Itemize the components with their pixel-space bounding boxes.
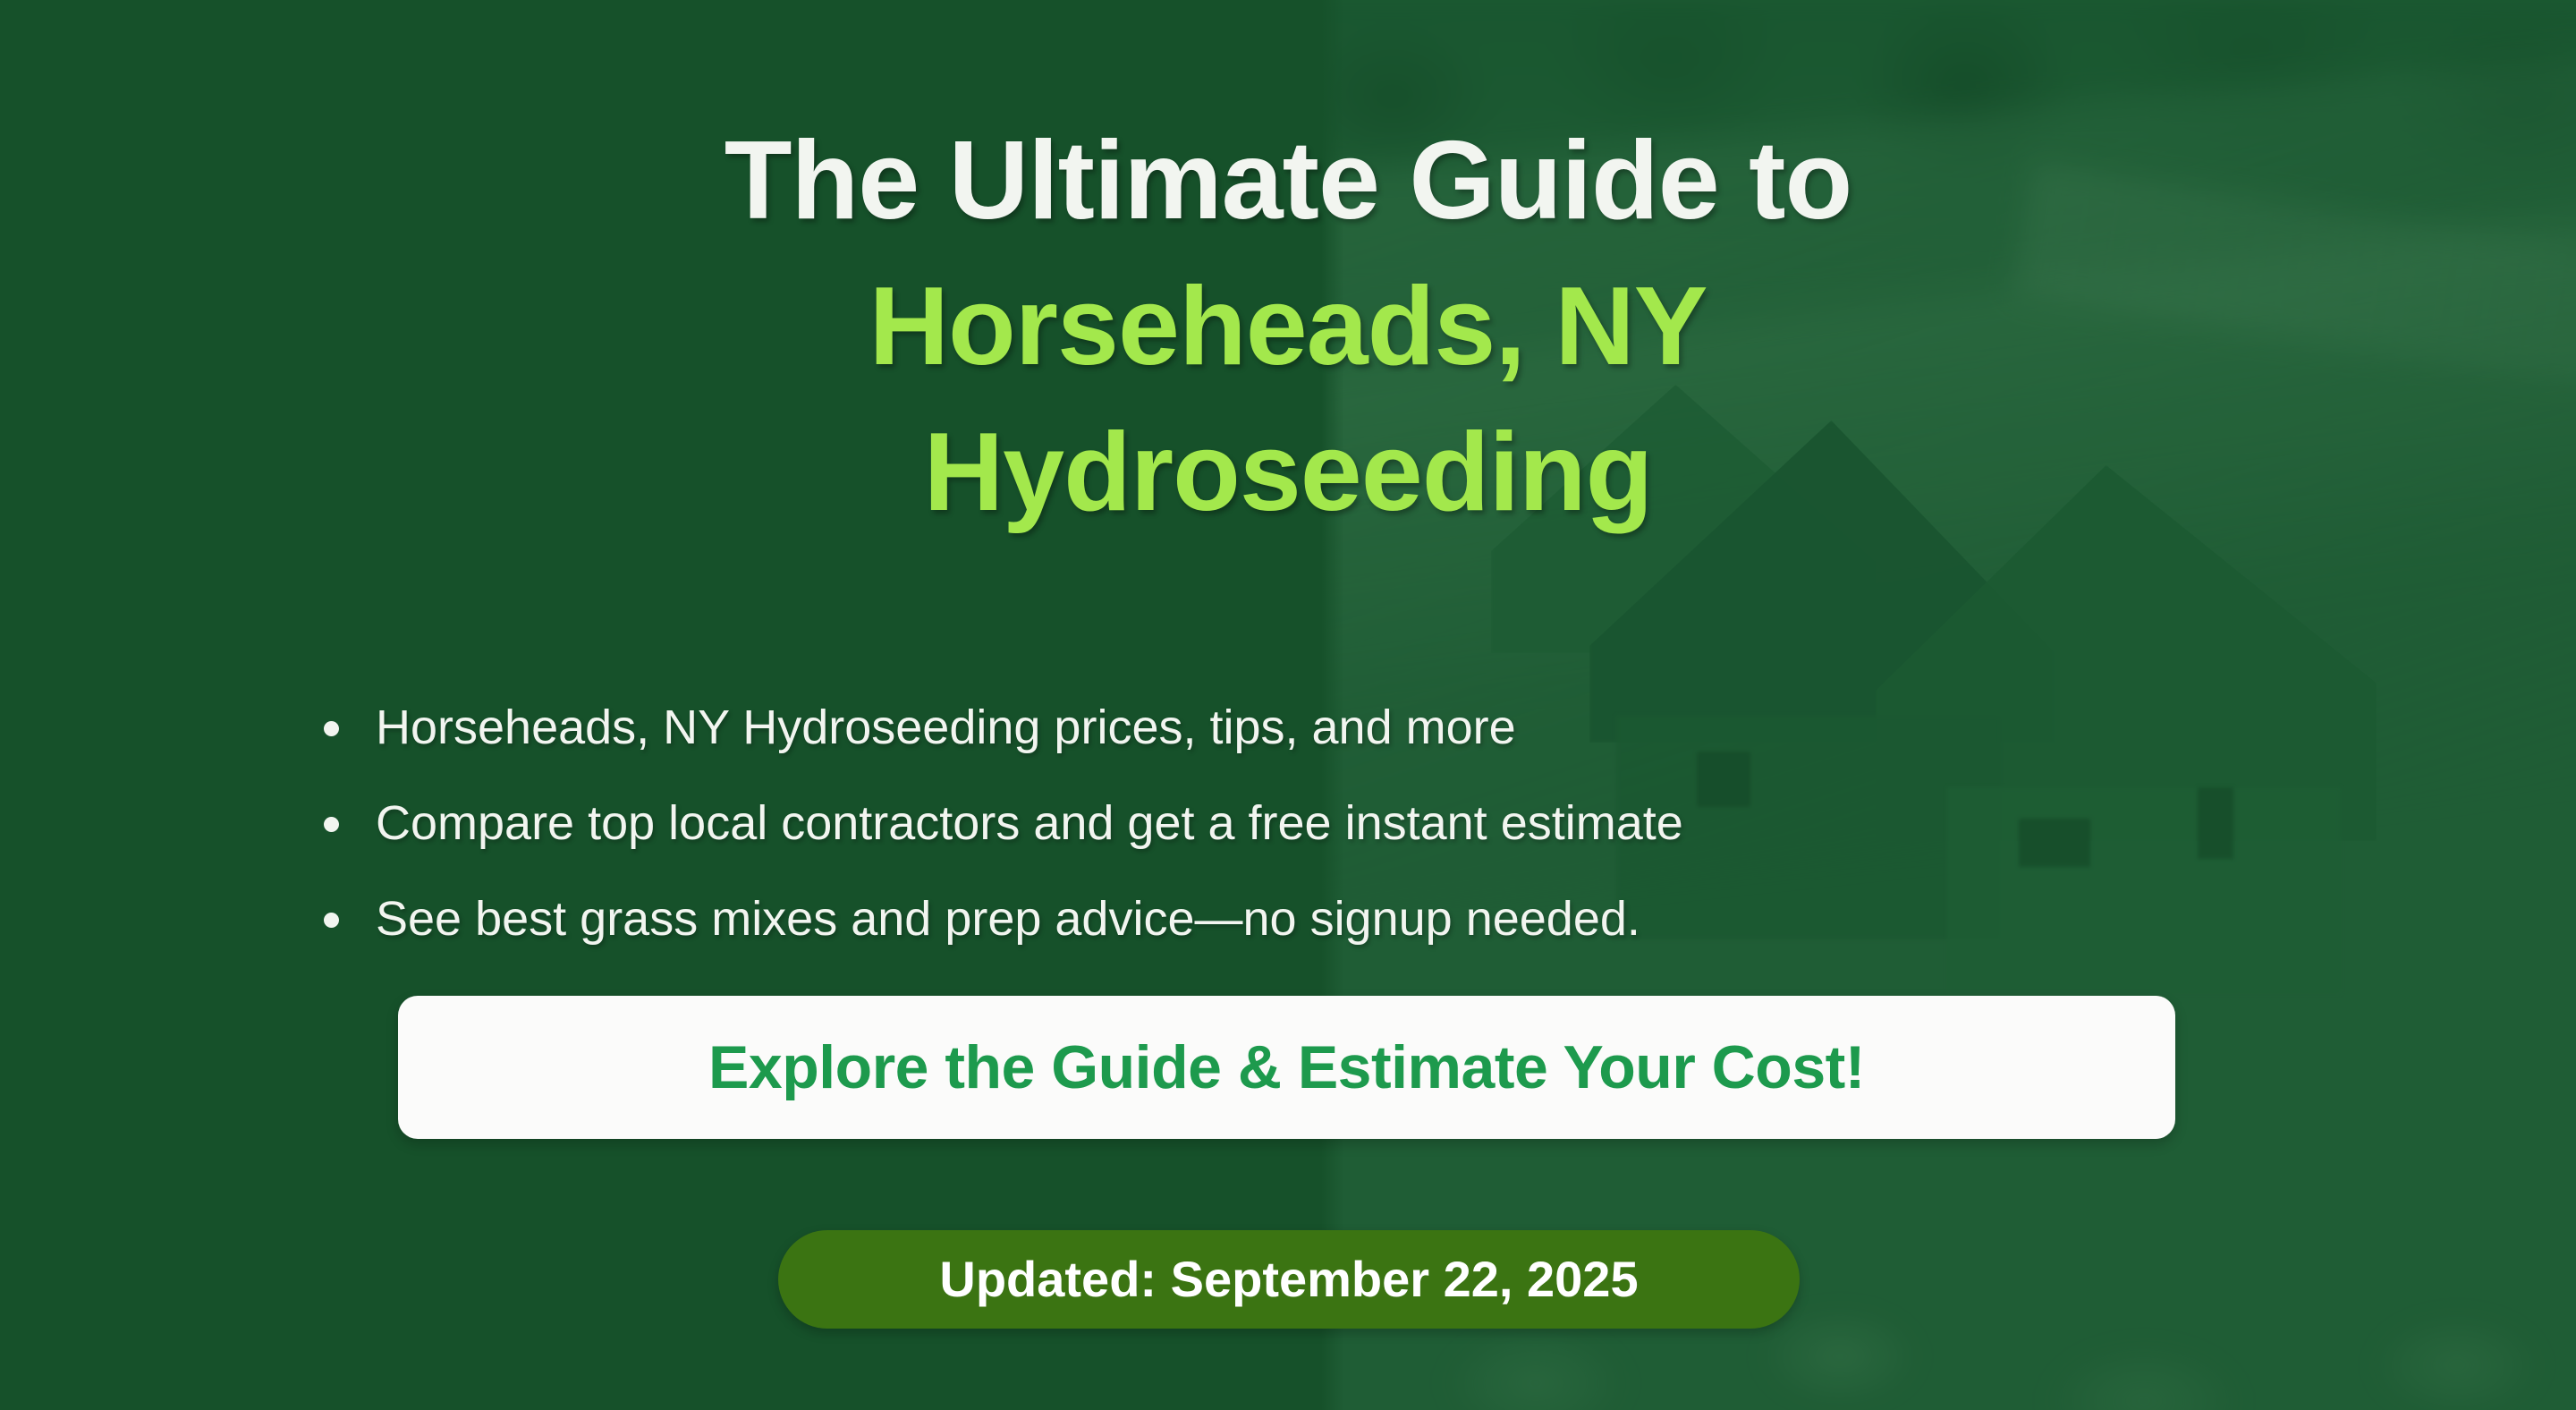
explore-guide-cta-button[interactable]: Explore the Guide & Estimate Your Cost!: [398, 996, 2175, 1139]
hero-banner: The Ultimate Guide to Horseheads, NY Hyd…: [0, 0, 2576, 1410]
feature-bullet-list: Horseheads, NY Hydroseeding prices, tips…: [315, 680, 2372, 967]
bullet-text: Horseheads, NY Hydroseeding prices, tips…: [376, 701, 1516, 754]
updated-date-badge: Updated: September 22, 2025: [778, 1230, 1800, 1329]
bullet-text: See best grass mixes and prep advice—no …: [376, 892, 1640, 946]
list-item: Compare top local contractors and get a …: [315, 776, 2372, 871]
headline-line-3: Hydroseeding: [0, 400, 2576, 546]
hero-content: The Ultimate Guide to Horseheads, NY Hyd…: [0, 0, 2576, 1410]
list-item: See best grass mixes and prep advice—no …: [315, 871, 2372, 967]
bullet-text: Compare top local contractors and get a …: [376, 796, 1683, 850]
headline-line-2: Horseheads, NY: [0, 254, 2576, 400]
page-title: The Ultimate Guide to Horseheads, NY Hyd…: [0, 108, 2576, 546]
list-item: Horseheads, NY Hydroseeding prices, tips…: [315, 680, 2372, 776]
headline-line-1: The Ultimate Guide to: [724, 119, 1851, 242]
